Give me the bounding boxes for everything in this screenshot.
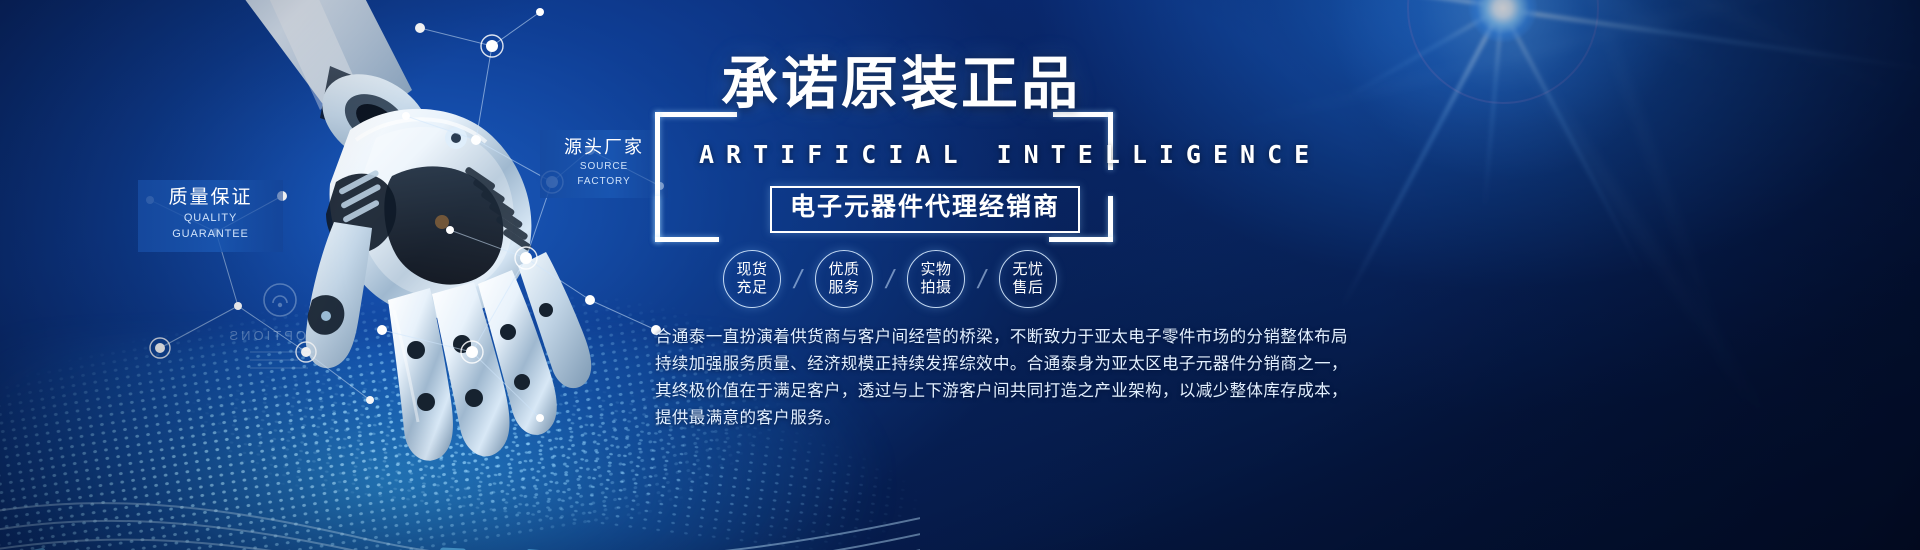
badge-quality-service: 优质 服务 [815,250,873,308]
tag-quality-guarantee: 质量保证 QUALITY GUARANTEE [138,180,283,252]
headline-boxed: 电子元器件代理经销商 [770,186,1080,233]
headline-boxed-text: 电子元器件代理经销商 [790,193,1060,221]
feature-badges: 现货 充足 / 优质 服务 / 实物 拍摄 / 无忧 售后 [723,250,1057,308]
paragraph-line-3: 其终极价值在于满足客户，透过与上下游客户间共同打造之产业架构，以减少整体库存成本… [655,378,1455,405]
tag-source-factory: 源头厂家 SOURCE FACTORY [540,130,668,198]
headline-frame: 承诺原装正品 ARTIFICIAL INTELLIGENCE 电子元器件代理经销… [655,62,1113,242]
badge-line1: 现货 [736,261,767,279]
badge-real-photo: 实物 拍摄 [907,250,965,308]
paragraph-line-1: 合通泰一直扮演着供货商与客户间经营的桥梁，不断致力于亚太电子零件市场的分销整体布… [655,324,1455,351]
badge-separator: / [962,264,1003,295]
headline-main: 承诺原装正品 [721,56,1081,113]
badge-line1: 实物 [920,261,951,279]
headline-english: ARTIFICIAL INTELLIGENCE [699,142,1321,167]
content-block: 承诺原装正品 ARTIFICIAL INTELLIGENCE 电子元器件代理经销… [655,62,1415,242]
description-paragraph: 合通泰一直扮演着供货商与客户间经营的桥梁，不断致力于亚太电子零件市场的分销整体布… [655,324,1455,432]
badge-in-stock: 现货 充足 [723,250,781,308]
tag-source-cn: 源头厂家 [556,137,652,158]
tag-quality-en: QUALITY GUARANTEE [154,210,267,243]
paragraph-line-2: 持续加强服务质量、经济规模正持续发挥综效中。合通泰身为亚太区电子元器件分销商之一… [655,351,1455,378]
tag-source-en: SOURCE FACTORY [556,159,652,189]
badge-line2: 充足 [736,279,767,297]
tag-quality-cn: 质量保证 [154,187,267,209]
badge-line2: 售后 [1012,279,1043,297]
badge-separator: / [870,264,911,295]
badge-line1: 无忧 [1012,261,1043,279]
badge-line2: 服务 [828,279,859,297]
promo-banner: OPTIONS 质量保证 QUALITY GUARANTEE 源头厂家 SOUR… [0,0,1920,550]
badge-separator: / [778,264,819,295]
badge-line1: 优质 [828,261,859,279]
badge-line2: 拍摄 [920,279,951,297]
paragraph-line-4: 提供最满意的客户服务。 [655,405,1455,432]
badge-after-sales: 无忧 售后 [999,250,1057,308]
